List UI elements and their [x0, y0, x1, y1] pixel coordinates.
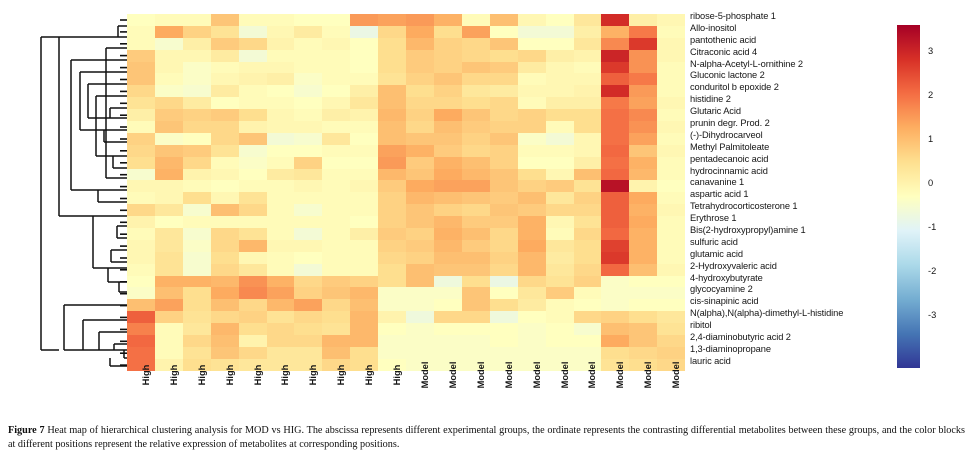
- heatmap-cell[interactable]: [350, 335, 378, 347]
- heatmap-cell[interactable]: [378, 145, 406, 157]
- heatmap-cell[interactable]: [546, 192, 574, 204]
- heatmap-cell[interactable]: [434, 133, 462, 145]
- heatmap-cell[interactable]: [462, 287, 490, 299]
- heatmap-cell[interactable]: [546, 50, 574, 62]
- heatmap-cell[interactable]: [657, 133, 685, 145]
- heatmap-cell[interactable]: [183, 38, 211, 50]
- heatmap-cell[interactable]: [629, 62, 657, 74]
- heatmap-cell[interactable]: [546, 145, 574, 157]
- heatmap-cell[interactable]: [350, 26, 378, 38]
- heatmap-cell[interactable]: [183, 145, 211, 157]
- heatmap-cell[interactable]: [601, 216, 629, 228]
- heatmap-cell[interactable]: [127, 264, 155, 276]
- heatmap-cell[interactable]: [406, 145, 434, 157]
- heatmap-cell[interactable]: [657, 276, 685, 288]
- heatmap-cell[interactable]: [574, 311, 602, 323]
- heatmap-cell[interactable]: [378, 335, 406, 347]
- heatmap-cell[interactable]: [546, 276, 574, 288]
- heatmap-cell[interactable]: [546, 109, 574, 121]
- heatmap-cell[interactable]: [629, 299, 657, 311]
- heatmap-cell[interactable]: [462, 26, 490, 38]
- heatmap-cell[interactable]: [239, 335, 267, 347]
- heatmap-cell[interactable]: [294, 287, 322, 299]
- heatmap-cell[interactable]: [406, 180, 434, 192]
- heatmap-cell[interactable]: [490, 240, 518, 252]
- heatmap-cell[interactable]: [601, 38, 629, 50]
- heatmap-cell[interactable]: [629, 14, 657, 26]
- heatmap-cell[interactable]: [211, 228, 239, 240]
- heatmap-cell[interactable]: [183, 26, 211, 38]
- heatmap-cell[interactable]: [267, 299, 295, 311]
- heatmap-cell[interactable]: [462, 97, 490, 109]
- heatmap-cell[interactable]: [211, 192, 239, 204]
- heatmap-cell[interactable]: [267, 216, 295, 228]
- heatmap-cell[interactable]: [406, 299, 434, 311]
- heatmap-cell[interactable]: [378, 252, 406, 264]
- heatmap-cell[interactable]: [211, 38, 239, 50]
- heatmap-cell[interactable]: [127, 252, 155, 264]
- heatmap-cell[interactable]: [629, 335, 657, 347]
- heatmap-cell[interactable]: [294, 311, 322, 323]
- heatmap-cell[interactable]: [434, 97, 462, 109]
- heatmap-cell[interactable]: [490, 287, 518, 299]
- heatmap-cell[interactable]: [183, 109, 211, 121]
- heatmap-cell[interactable]: [127, 180, 155, 192]
- heatmap-cell[interactable]: [183, 347, 211, 359]
- heatmap-cell[interactable]: [657, 109, 685, 121]
- heatmap-cell[interactable]: [239, 157, 267, 169]
- heatmap-cell[interactable]: [239, 85, 267, 97]
- heatmap-cell[interactable]: [378, 157, 406, 169]
- heatmap-cell[interactable]: [378, 228, 406, 240]
- heatmap-cell[interactable]: [294, 228, 322, 240]
- heatmap-cell[interactable]: [155, 26, 183, 38]
- heatmap-cell[interactable]: [434, 38, 462, 50]
- heatmap-cell[interactable]: [155, 133, 183, 145]
- heatmap-cell[interactable]: [267, 335, 295, 347]
- heatmap-cell[interactable]: [574, 347, 602, 359]
- heatmap-cell[interactable]: [155, 240, 183, 252]
- heatmap-cell[interactable]: [406, 133, 434, 145]
- heatmap-cell[interactable]: [546, 180, 574, 192]
- heatmap-cell[interactable]: [155, 157, 183, 169]
- heatmap-cell[interactable]: [546, 228, 574, 240]
- heatmap-cell[interactable]: [350, 299, 378, 311]
- heatmap-cell[interactable]: [490, 216, 518, 228]
- heatmap-cell[interactable]: [322, 157, 350, 169]
- heatmap-cell[interactable]: [127, 157, 155, 169]
- heatmap-cell[interactable]: [211, 26, 239, 38]
- heatmap-cell[interactable]: [127, 109, 155, 121]
- heatmap-cell[interactable]: [322, 204, 350, 216]
- heatmap-cell[interactable]: [294, 26, 322, 38]
- heatmap-cell[interactable]: [574, 180, 602, 192]
- heatmap-cell[interactable]: [350, 287, 378, 299]
- heatmap-cell[interactable]: [211, 157, 239, 169]
- heatmap-cell[interactable]: [183, 85, 211, 97]
- heatmap-cell[interactable]: [657, 169, 685, 181]
- heatmap-cell[interactable]: [574, 145, 602, 157]
- heatmap-cell[interactable]: [518, 50, 546, 62]
- heatmap-cell[interactable]: [350, 252, 378, 264]
- heatmap-cell[interactable]: [462, 14, 490, 26]
- heatmap-cell[interactable]: [434, 121, 462, 133]
- heatmap-cell[interactable]: [211, 299, 239, 311]
- heatmap-cell[interactable]: [350, 347, 378, 359]
- heatmap-cell[interactable]: [239, 62, 267, 74]
- heatmap-cell[interactable]: [350, 109, 378, 121]
- heatmap-cell[interactable]: [155, 299, 183, 311]
- heatmap-cell[interactable]: [294, 276, 322, 288]
- heatmap-cell[interactable]: [211, 85, 239, 97]
- heatmap-cell[interactable]: [183, 169, 211, 181]
- heatmap-cell[interactable]: [462, 192, 490, 204]
- heatmap-cell[interactable]: [518, 109, 546, 121]
- heatmap-cell[interactable]: [322, 121, 350, 133]
- heatmap-cell[interactable]: [127, 276, 155, 288]
- heatmap-cell[interactable]: [490, 109, 518, 121]
- heatmap-cell[interactable]: [267, 347, 295, 359]
- heatmap-cell[interactable]: [434, 180, 462, 192]
- heatmap-cell[interactable]: [629, 264, 657, 276]
- heatmap-cell[interactable]: [546, 121, 574, 133]
- heatmap-cell[interactable]: [406, 311, 434, 323]
- heatmap-cell[interactable]: [434, 228, 462, 240]
- heatmap-cell[interactable]: [378, 85, 406, 97]
- heatmap-cell[interactable]: [322, 73, 350, 85]
- heatmap-cell[interactable]: [629, 73, 657, 85]
- heatmap-cell[interactable]: [490, 299, 518, 311]
- heatmap-cell[interactable]: [434, 14, 462, 26]
- heatmap-cell[interactable]: [574, 109, 602, 121]
- heatmap-cell[interactable]: [546, 311, 574, 323]
- heatmap-cell[interactable]: [211, 287, 239, 299]
- heatmap-cell[interactable]: [406, 109, 434, 121]
- heatmap-cell[interactable]: [574, 62, 602, 74]
- heatmap-cell[interactable]: [378, 299, 406, 311]
- heatmap-cell[interactable]: [183, 62, 211, 74]
- heatmap-cell[interactable]: [127, 287, 155, 299]
- heatmap-cell[interactable]: [155, 335, 183, 347]
- heatmap-cell[interactable]: [434, 85, 462, 97]
- heatmap-cell[interactable]: [518, 38, 546, 50]
- heatmap-cell[interactable]: [211, 180, 239, 192]
- heatmap-cell[interactable]: [574, 335, 602, 347]
- heatmap-cell[interactable]: [127, 228, 155, 240]
- heatmap-cell[interactable]: [462, 38, 490, 50]
- heatmap-cell[interactable]: [490, 145, 518, 157]
- heatmap-cell[interactable]: [267, 287, 295, 299]
- heatmap-cell[interactable]: [127, 204, 155, 216]
- heatmap-cell[interactable]: [518, 145, 546, 157]
- heatmap-cell[interactable]: [183, 264, 211, 276]
- heatmap-cell[interactable]: [546, 73, 574, 85]
- heatmap-cell[interactable]: [294, 216, 322, 228]
- heatmap-cell[interactable]: [378, 192, 406, 204]
- heatmap-cell[interactable]: [350, 216, 378, 228]
- heatmap-cell[interactable]: [406, 252, 434, 264]
- heatmap-cell[interactable]: [350, 311, 378, 323]
- heatmap-cell[interactable]: [211, 276, 239, 288]
- heatmap-cell[interactable]: [322, 109, 350, 121]
- heatmap-cell[interactable]: [239, 109, 267, 121]
- heatmap-cell[interactable]: [294, 14, 322, 26]
- heatmap-cell[interactable]: [127, 169, 155, 181]
- heatmap-cell[interactable]: [546, 335, 574, 347]
- heatmap-cell[interactable]: [574, 157, 602, 169]
- heatmap-cell[interactable]: [183, 276, 211, 288]
- heatmap-cell[interactable]: [350, 121, 378, 133]
- heatmap-cell[interactable]: [378, 26, 406, 38]
- heatmap-cell[interactable]: [155, 73, 183, 85]
- heatmap-cell[interactable]: [406, 216, 434, 228]
- heatmap-cell[interactable]: [462, 252, 490, 264]
- heatmap-grid[interactable]: [127, 14, 685, 371]
- heatmap-cell[interactable]: [657, 97, 685, 109]
- heatmap-cell[interactable]: [183, 50, 211, 62]
- heatmap-cell[interactable]: [434, 169, 462, 181]
- heatmap-cell[interactable]: [601, 50, 629, 62]
- heatmap-cell[interactable]: [629, 240, 657, 252]
- heatmap-cell[interactable]: [322, 216, 350, 228]
- heatmap-cell[interactable]: [657, 62, 685, 74]
- heatmap-cell[interactable]: [518, 323, 546, 335]
- heatmap-cell[interactable]: [294, 335, 322, 347]
- heatmap-cell[interactable]: [601, 192, 629, 204]
- heatmap-cell[interactable]: [406, 157, 434, 169]
- heatmap-cell[interactable]: [546, 169, 574, 181]
- heatmap-cell[interactable]: [239, 287, 267, 299]
- heatmap-cell[interactable]: [657, 50, 685, 62]
- heatmap-cell[interactable]: [378, 62, 406, 74]
- heatmap-cell[interactable]: [657, 121, 685, 133]
- heatmap-cell[interactable]: [434, 240, 462, 252]
- heatmap-cell[interactable]: [183, 228, 211, 240]
- heatmap-cell[interactable]: [657, 85, 685, 97]
- heatmap-cell[interactable]: [657, 157, 685, 169]
- heatmap-cell[interactable]: [657, 73, 685, 85]
- heatmap-cell[interactable]: [350, 157, 378, 169]
- heatmap-cell[interactable]: [574, 121, 602, 133]
- heatmap-cell[interactable]: [518, 287, 546, 299]
- heatmap-cell[interactable]: [434, 335, 462, 347]
- heatmap-cell[interactable]: [490, 323, 518, 335]
- heatmap-cell[interactable]: [657, 216, 685, 228]
- heatmap-cell[interactable]: [462, 276, 490, 288]
- heatmap-cell[interactable]: [629, 180, 657, 192]
- heatmap-cell[interactable]: [294, 73, 322, 85]
- heatmap-cell[interactable]: [239, 50, 267, 62]
- heatmap-cell[interactable]: [155, 204, 183, 216]
- heatmap-cell[interactable]: [657, 26, 685, 38]
- heatmap-cell[interactable]: [155, 85, 183, 97]
- heatmap-cell[interactable]: [294, 252, 322, 264]
- heatmap-cell[interactable]: [211, 335, 239, 347]
- heatmap-cell[interactable]: [657, 204, 685, 216]
- heatmap-cell[interactable]: [518, 26, 546, 38]
- heatmap-cell[interactable]: [294, 121, 322, 133]
- heatmap-cell[interactable]: [350, 169, 378, 181]
- heatmap-cell[interactable]: [267, 38, 295, 50]
- heatmap-cell[interactable]: [406, 50, 434, 62]
- heatmap-cell[interactable]: [239, 204, 267, 216]
- heatmap-cell[interactable]: [127, 26, 155, 38]
- heatmap-cell[interactable]: [183, 121, 211, 133]
- heatmap-cell[interactable]: [434, 109, 462, 121]
- heatmap-cell[interactable]: [462, 73, 490, 85]
- heatmap-cell[interactable]: [406, 26, 434, 38]
- heatmap-cell[interactable]: [127, 50, 155, 62]
- heatmap-cell[interactable]: [155, 97, 183, 109]
- heatmap-cell[interactable]: [267, 26, 295, 38]
- heatmap-cell[interactable]: [518, 252, 546, 264]
- heatmap-cell[interactable]: [629, 85, 657, 97]
- heatmap-cell[interactable]: [462, 121, 490, 133]
- heatmap-cell[interactable]: [211, 216, 239, 228]
- heatmap-cell[interactable]: [294, 204, 322, 216]
- heatmap-cell[interactable]: [267, 85, 295, 97]
- heatmap-cell[interactable]: [462, 335, 490, 347]
- heatmap-cell[interactable]: [546, 97, 574, 109]
- heatmap-cell[interactable]: [155, 228, 183, 240]
- heatmap-cell[interactable]: [657, 299, 685, 311]
- heatmap-cell[interactable]: [657, 180, 685, 192]
- heatmap-cell[interactable]: [546, 287, 574, 299]
- heatmap-cell[interactable]: [574, 50, 602, 62]
- heatmap-cell[interactable]: [322, 26, 350, 38]
- heatmap-cell[interactable]: [322, 311, 350, 323]
- heatmap-cell[interactable]: [294, 347, 322, 359]
- heatmap-cell[interactable]: [211, 323, 239, 335]
- heatmap-cell[interactable]: [239, 145, 267, 157]
- heatmap-cell[interactable]: [601, 252, 629, 264]
- heatmap-cell[interactable]: [322, 264, 350, 276]
- heatmap-cell[interactable]: [322, 347, 350, 359]
- heatmap-cell[interactable]: [546, 62, 574, 74]
- heatmap-cell[interactable]: [239, 311, 267, 323]
- heatmap-cell[interactable]: [211, 73, 239, 85]
- heatmap-cell[interactable]: [322, 228, 350, 240]
- heatmap-cell[interactable]: [350, 38, 378, 50]
- heatmap-cell[interactable]: [462, 204, 490, 216]
- heatmap-cell[interactable]: [350, 323, 378, 335]
- heatmap-cell[interactable]: [267, 252, 295, 264]
- heatmap-cell[interactable]: [183, 252, 211, 264]
- heatmap-cell[interactable]: [490, 335, 518, 347]
- heatmap-cell[interactable]: [183, 192, 211, 204]
- heatmap-cell[interactable]: [322, 50, 350, 62]
- heatmap-cell[interactable]: [406, 347, 434, 359]
- heatmap-cell[interactable]: [518, 169, 546, 181]
- heatmap-cell[interactable]: [406, 192, 434, 204]
- heatmap-cell[interactable]: [462, 133, 490, 145]
- heatmap-cell[interactable]: [183, 73, 211, 85]
- heatmap-cell[interactable]: [350, 97, 378, 109]
- heatmap-cell[interactable]: [601, 264, 629, 276]
- heatmap-cell[interactable]: [155, 311, 183, 323]
- heatmap-cell[interactable]: [378, 121, 406, 133]
- heatmap-cell[interactable]: [127, 311, 155, 323]
- heatmap-cell[interactable]: [183, 240, 211, 252]
- heatmap-cell[interactable]: [406, 276, 434, 288]
- heatmap-cell[interactable]: [267, 50, 295, 62]
- heatmap-cell[interactable]: [629, 26, 657, 38]
- heatmap-cell[interactable]: [211, 62, 239, 74]
- heatmap-cell[interactable]: [155, 169, 183, 181]
- heatmap-cell[interactable]: [239, 347, 267, 359]
- heatmap-cell[interactable]: [183, 14, 211, 26]
- heatmap-cell[interactable]: [294, 85, 322, 97]
- heatmap-cell[interactable]: [490, 73, 518, 85]
- heatmap-cell[interactable]: [267, 109, 295, 121]
- heatmap-cell[interactable]: [267, 311, 295, 323]
- heatmap-cell[interactable]: [239, 180, 267, 192]
- heatmap-cell[interactable]: [239, 14, 267, 26]
- heatmap-cell[interactable]: [294, 192, 322, 204]
- heatmap-cell[interactable]: [574, 133, 602, 145]
- heatmap-cell[interactable]: [601, 335, 629, 347]
- heatmap-cell[interactable]: [378, 180, 406, 192]
- heatmap-cell[interactable]: [406, 14, 434, 26]
- heatmap-cell[interactable]: [518, 85, 546, 97]
- heatmap-cell[interactable]: [490, 14, 518, 26]
- heatmap-cell[interactable]: [518, 347, 546, 359]
- heatmap-cell[interactable]: [127, 121, 155, 133]
- heatmap-cell[interactable]: [601, 109, 629, 121]
- heatmap-cell[interactable]: [434, 276, 462, 288]
- heatmap-cell[interactable]: [127, 133, 155, 145]
- heatmap-cell[interactable]: [239, 299, 267, 311]
- heatmap-cell[interactable]: [127, 240, 155, 252]
- heatmap-cell[interactable]: [378, 14, 406, 26]
- heatmap-cell[interactable]: [434, 50, 462, 62]
- heatmap-cell[interactable]: [267, 180, 295, 192]
- heatmap-cell[interactable]: [211, 311, 239, 323]
- heatmap-cell[interactable]: [629, 347, 657, 359]
- heatmap-cell[interactable]: [518, 240, 546, 252]
- heatmap-cell[interactable]: [574, 276, 602, 288]
- heatmap-cell[interactable]: [601, 240, 629, 252]
- heatmap-cell[interactable]: [183, 311, 211, 323]
- heatmap-cell[interactable]: [350, 14, 378, 26]
- heatmap-cell[interactable]: [518, 14, 546, 26]
- heatmap-cell[interactable]: [406, 240, 434, 252]
- heatmap-cell[interactable]: [629, 276, 657, 288]
- heatmap-cell[interactable]: [378, 347, 406, 359]
- heatmap-cell[interactable]: [127, 192, 155, 204]
- heatmap-cell[interactable]: [629, 157, 657, 169]
- heatmap-cell[interactable]: [406, 121, 434, 133]
- heatmap-cell[interactable]: [239, 240, 267, 252]
- heatmap-cell[interactable]: [211, 14, 239, 26]
- heatmap-cell[interactable]: [601, 14, 629, 26]
- heatmap-cell[interactable]: [490, 121, 518, 133]
- heatmap-cell[interactable]: [155, 323, 183, 335]
- heatmap-cell[interactable]: [183, 299, 211, 311]
- heatmap-cell[interactable]: [629, 323, 657, 335]
- heatmap-cell[interactable]: [406, 38, 434, 50]
- heatmap-cell[interactable]: [629, 216, 657, 228]
- heatmap-cell[interactable]: [462, 347, 490, 359]
- heatmap-cell[interactable]: [211, 145, 239, 157]
- heatmap-cell[interactable]: [322, 169, 350, 181]
- heatmap-cell[interactable]: [350, 133, 378, 145]
- heatmap-cell[interactable]: [574, 323, 602, 335]
- heatmap-cell[interactable]: [155, 276, 183, 288]
- heatmap-cell[interactable]: [546, 14, 574, 26]
- heatmap-cell[interactable]: [657, 287, 685, 299]
- heatmap-cell[interactable]: [267, 204, 295, 216]
